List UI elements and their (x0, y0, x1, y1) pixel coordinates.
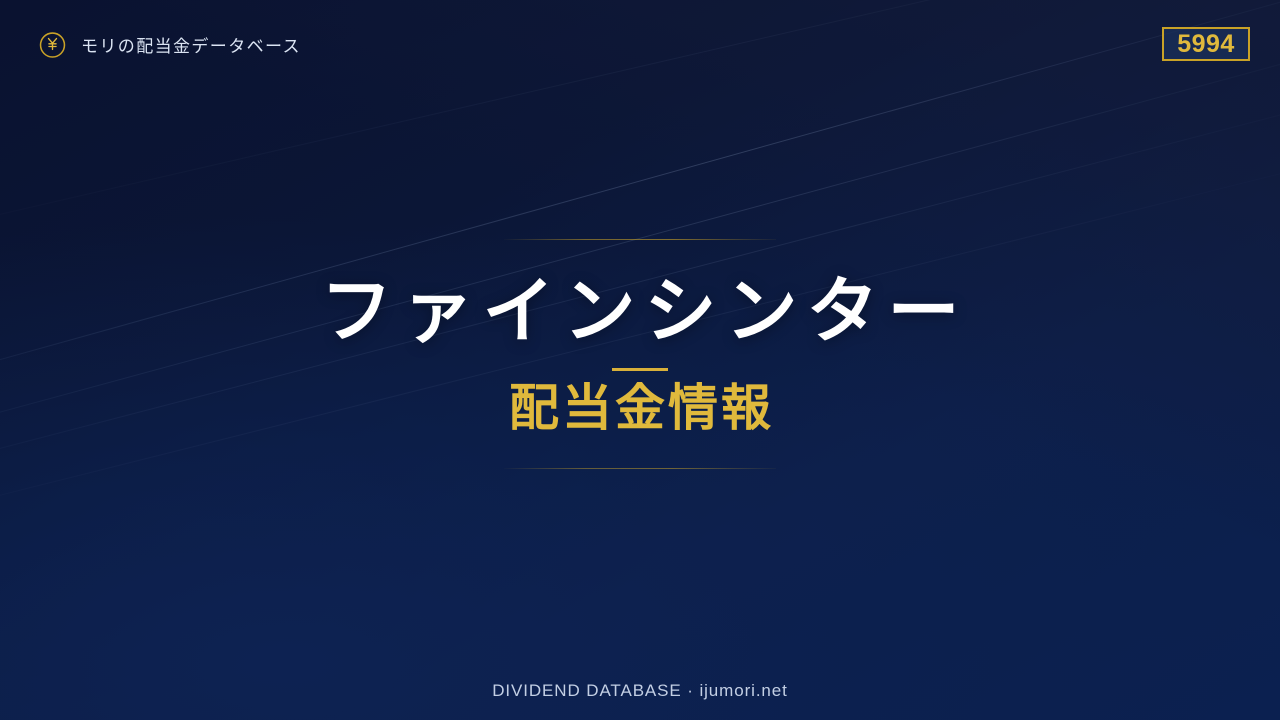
hero-section: ファインシンター 配当金情報 (0, 0, 1280, 720)
page-background: モリの配当金データベース 5994 ファインシンター 配当金情報 DIVIDEN… (0, 0, 1280, 720)
divider-top (504, 239, 776, 240)
site-footer: DIVIDEND DATABASE · ijumori.net (0, 662, 1280, 720)
footer-caption: DIVIDEND DATABASE · ijumori.net (492, 681, 788, 701)
divider-bottom (504, 468, 776, 469)
site-header: モリの配当金データベース 5994 (0, 0, 1280, 88)
gold-dash-separator (612, 368, 668, 371)
brand[interactable]: モリの配当金データベース (38, 30, 301, 59)
company-name-title: ファインシンター (311, 274, 968, 352)
yen-circle-icon (38, 30, 67, 59)
page-subtitle: 配当金情報 (506, 380, 774, 436)
site-name: モリの配当金データベース (81, 32, 301, 57)
ticker-code-badge[interactable]: 5994 (1162, 27, 1250, 61)
